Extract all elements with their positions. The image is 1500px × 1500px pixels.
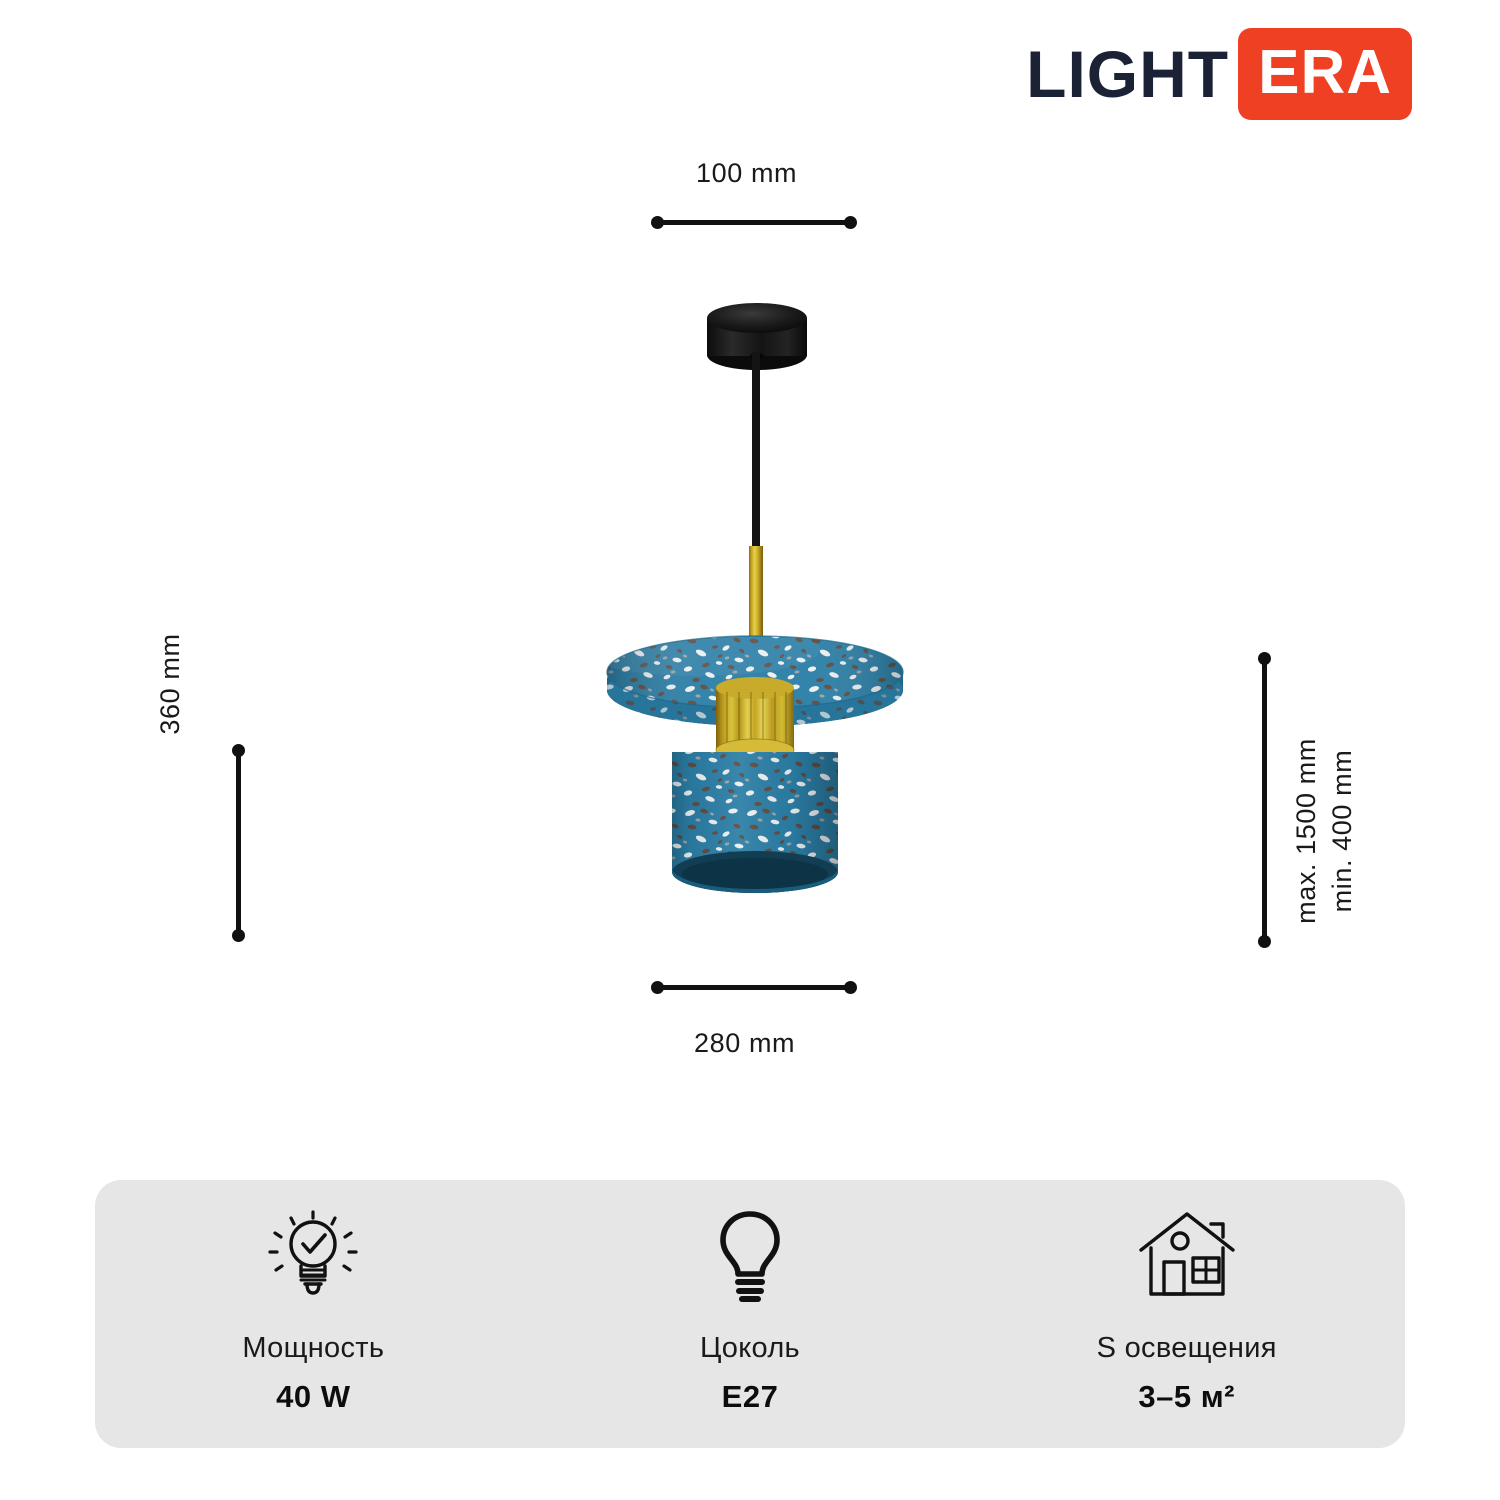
terrazzo-cylinder-shade [660,731,850,900]
spec-value-area: 3–5 м² [1138,1379,1235,1415]
spec-title-area: S освещения [1097,1332,1277,1365]
specifications-card: Мощность 40 W Цоколь E27 [95,1180,1405,1448]
spec-item-power: Мощность 40 W [95,1180,532,1448]
product-spec-page: LIGHT ERA 100 mm 360 mm max. 1500 mm min… [0,0,1500,1500]
house-icon [1133,1202,1241,1310]
bulb-base-icon [698,1202,802,1310]
spec-title-power: Мощность [242,1332,384,1365]
hanging-cord [752,352,760,552]
spec-value-socket: E27 [722,1379,779,1415]
spec-item-socket: Цоколь E27 [532,1180,969,1448]
spec-value-power: 40 W [276,1379,350,1415]
spec-item-area: S освещения 3–5 м² [968,1180,1405,1448]
spec-title-socket: Цоколь [700,1332,800,1365]
bulb-check-icon [261,1202,365,1310]
